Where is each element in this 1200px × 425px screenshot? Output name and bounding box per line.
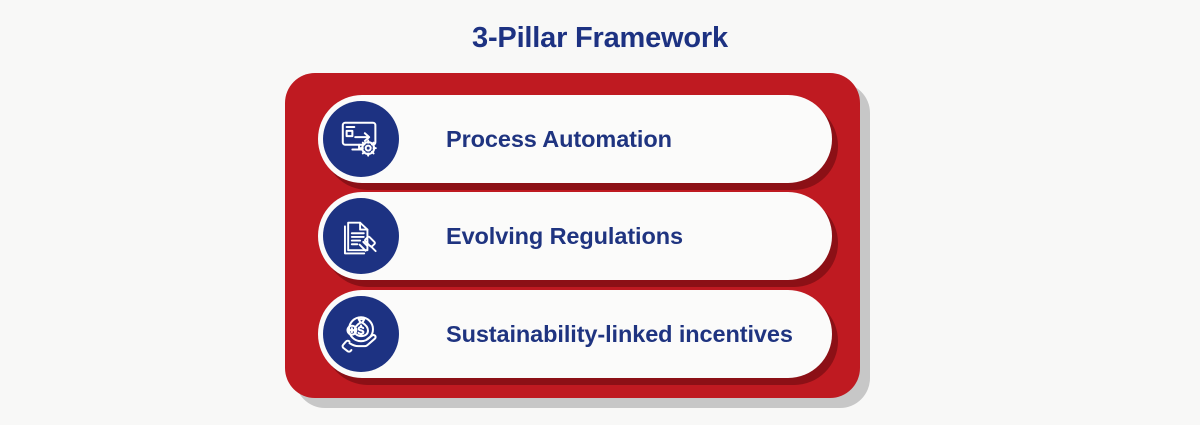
pillar-label: Process Automation	[446, 95, 672, 183]
pillar-label: Sustainability-linked incentives	[446, 290, 793, 378]
monitor-gear-automation-icon	[338, 116, 384, 162]
document-gavel-icon	[339, 214, 383, 258]
framework-card: Process Automation	[285, 73, 860, 398]
pill-surface[interactable]: Process Automation	[318, 95, 832, 183]
pillar-label: Evolving Regulations	[446, 192, 683, 280]
pill-surface[interactable]: Sustainability-linked incentives	[318, 290, 832, 378]
pillar-row-sustainability-incentives[interactable]: Sustainability-linked incentives	[318, 290, 860, 378]
pill-surface[interactable]: Evolving Regulations	[318, 192, 832, 280]
pillar-row-evolving-regulations[interactable]: Evolving Regulations	[318, 192, 860, 280]
icon-badge	[323, 296, 399, 372]
page-title: 3-Pillar Framework	[0, 22, 1200, 55]
pillar-row-process-automation[interactable]: Process Automation	[318, 95, 860, 183]
icon-badge	[323, 101, 399, 177]
hand-money-bag-icon	[338, 311, 384, 357]
icon-badge	[323, 198, 399, 274]
